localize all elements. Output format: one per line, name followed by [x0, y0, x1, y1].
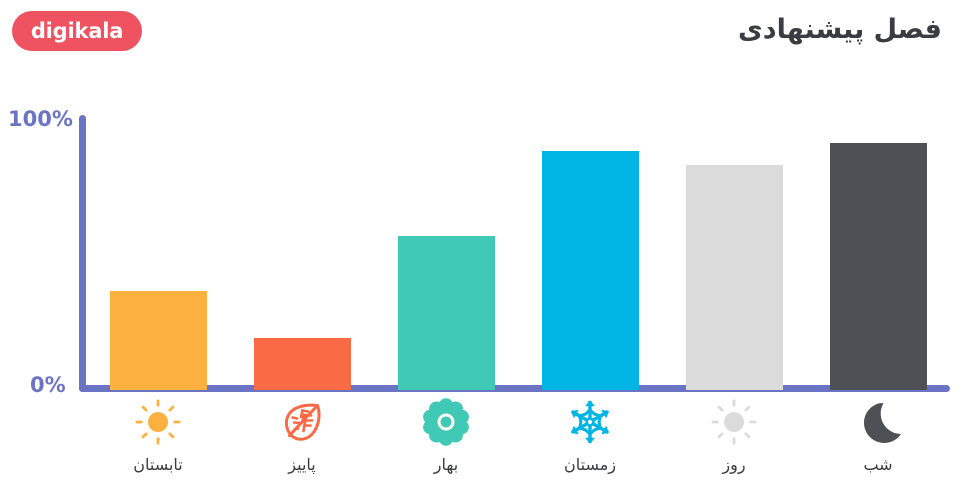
category-label: زمستان — [564, 455, 616, 474]
leaf-icon — [278, 398, 326, 446]
category-sun[interactable]: تابستان — [86, 398, 230, 474]
y-axis-line — [79, 115, 86, 392]
sun-pale-icon — [710, 398, 758, 446]
category-flower[interactable]: بهار — [374, 398, 518, 474]
bar-column[interactable] — [110, 115, 207, 390]
bar-column[interactable] — [398, 115, 495, 390]
category-label: تابستان — [133, 455, 183, 474]
category-label: روز — [722, 455, 745, 474]
category-label: بهار — [434, 455, 458, 474]
bar-moon[interactable] — [830, 143, 927, 391]
category-moon[interactable]: شب — [806, 398, 950, 474]
moon-icon — [854, 398, 902, 446]
bar-sun-pale[interactable] — [686, 165, 783, 391]
category-axis: تابستان پاییز بهار — [86, 398, 950, 491]
bar-column[interactable] — [830, 115, 927, 390]
bar-leaf[interactable] — [254, 338, 351, 390]
infographic-root: digikala فصل پیشنهادی 100% 0% تابستان پا… — [0, 0, 960, 491]
sun-icon — [134, 398, 182, 446]
bars-container — [86, 115, 950, 390]
bar-snowflake[interactable] — [542, 151, 639, 390]
bar-column[interactable] — [686, 115, 783, 390]
flower-icon — [422, 398, 470, 446]
snowflake-icon — [566, 398, 614, 446]
bar-column[interactable] — [254, 115, 351, 390]
bar-column[interactable] — [542, 115, 639, 390]
bar-chart: 100% 0% تابستان پاییز بهار — [0, 0, 960, 491]
category-leaf[interactable]: پاییز — [230, 398, 374, 474]
category-label: پاییز — [288, 455, 315, 474]
category-sun-pale[interactable]: روز — [662, 398, 806, 474]
bar-flower[interactable] — [398, 236, 495, 390]
bar-sun[interactable] — [110, 291, 207, 390]
category-snowflake[interactable]: زمستان — [518, 398, 662, 474]
category-label: شب — [863, 455, 892, 474]
